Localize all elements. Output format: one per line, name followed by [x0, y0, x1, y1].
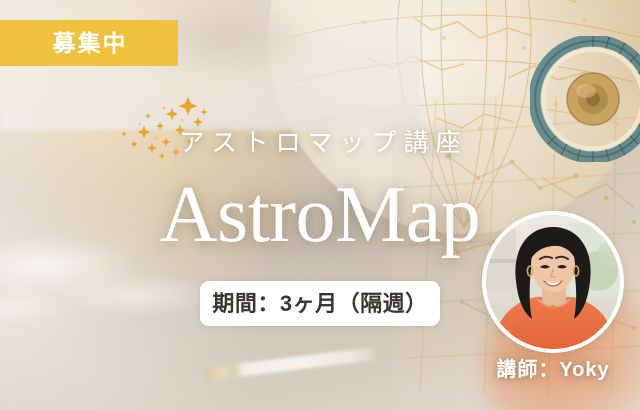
status-badge-recruiting: 募集中 [0, 20, 178, 66]
instructor-label: 講師：Yoky [470, 360, 636, 380]
course-banner: 募集中 アストロマップ講座 AstroMap 期間：3ヶ月（隔週） [0, 0, 640, 410]
avatar [482, 211, 624, 353]
course-period-label: 期間：3ヶ月（隔週） [212, 293, 427, 315]
status-badge-label: 募集中 [51, 32, 128, 55]
course-subtitle: アストロマップ講座 [0, 131, 640, 156]
course-period-badge: 期間：3ヶ月（隔週） [200, 281, 440, 326]
pen-decor [203, 347, 379, 381]
